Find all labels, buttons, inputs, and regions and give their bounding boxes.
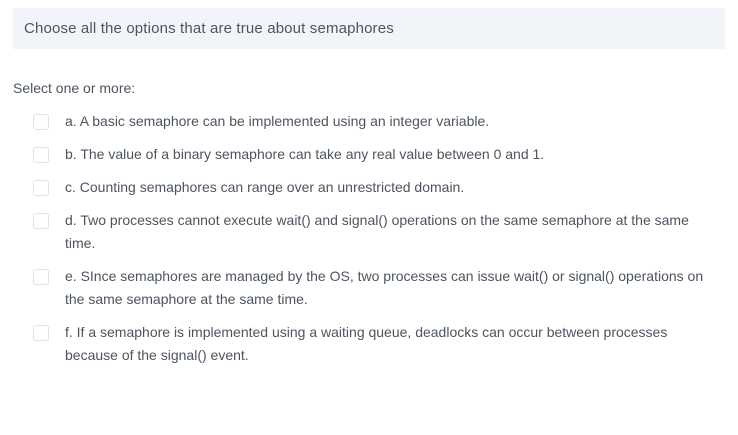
- checkbox-d[interactable]: [33, 213, 49, 229]
- selection-instruction: Select one or more:: [13, 79, 135, 97]
- answer-label-e[interactable]: e. SInce semaphores are managed by the O…: [65, 265, 710, 311]
- answer-option-a[interactable]: a. A basic semaphore can be implemented …: [33, 110, 723, 133]
- checkbox-b[interactable]: [33, 147, 49, 163]
- answer-option-d[interactable]: d. Two processes cannot execute wait() a…: [33, 209, 723, 255]
- answer-label-b[interactable]: b. The value of a binary semaphore can t…: [65, 143, 710, 166]
- answer-label-c[interactable]: c. Counting semaphores can range over an…: [65, 176, 710, 199]
- question-header: Choose all the options that are true abo…: [13, 8, 725, 49]
- answer-option-f[interactable]: f. If a semaphore is implemented using a…: [33, 321, 723, 367]
- checkbox-a[interactable]: [33, 114, 49, 130]
- checkbox-c[interactable]: [33, 180, 49, 196]
- answer-label-a[interactable]: a. A basic semaphore can be implemented …: [65, 110, 710, 133]
- answer-option-c[interactable]: c. Counting semaphores can range over an…: [33, 176, 723, 199]
- answer-label-f[interactable]: f. If a semaphore is implemented using a…: [65, 321, 710, 367]
- quiz-question-page: Choose all the options that are true abo…: [0, 0, 738, 435]
- answer-option-b[interactable]: b. The value of a binary semaphore can t…: [33, 143, 723, 166]
- answer-label-d[interactable]: d. Two processes cannot execute wait() a…: [65, 209, 710, 255]
- answer-option-e[interactable]: e. SInce semaphores are managed by the O…: [33, 265, 723, 311]
- checkbox-f[interactable]: [33, 325, 49, 341]
- checkbox-e[interactable]: [33, 269, 49, 285]
- question-title: Choose all the options that are true abo…: [24, 19, 394, 39]
- answer-options-list: a. A basic semaphore can be implemented …: [33, 110, 723, 377]
